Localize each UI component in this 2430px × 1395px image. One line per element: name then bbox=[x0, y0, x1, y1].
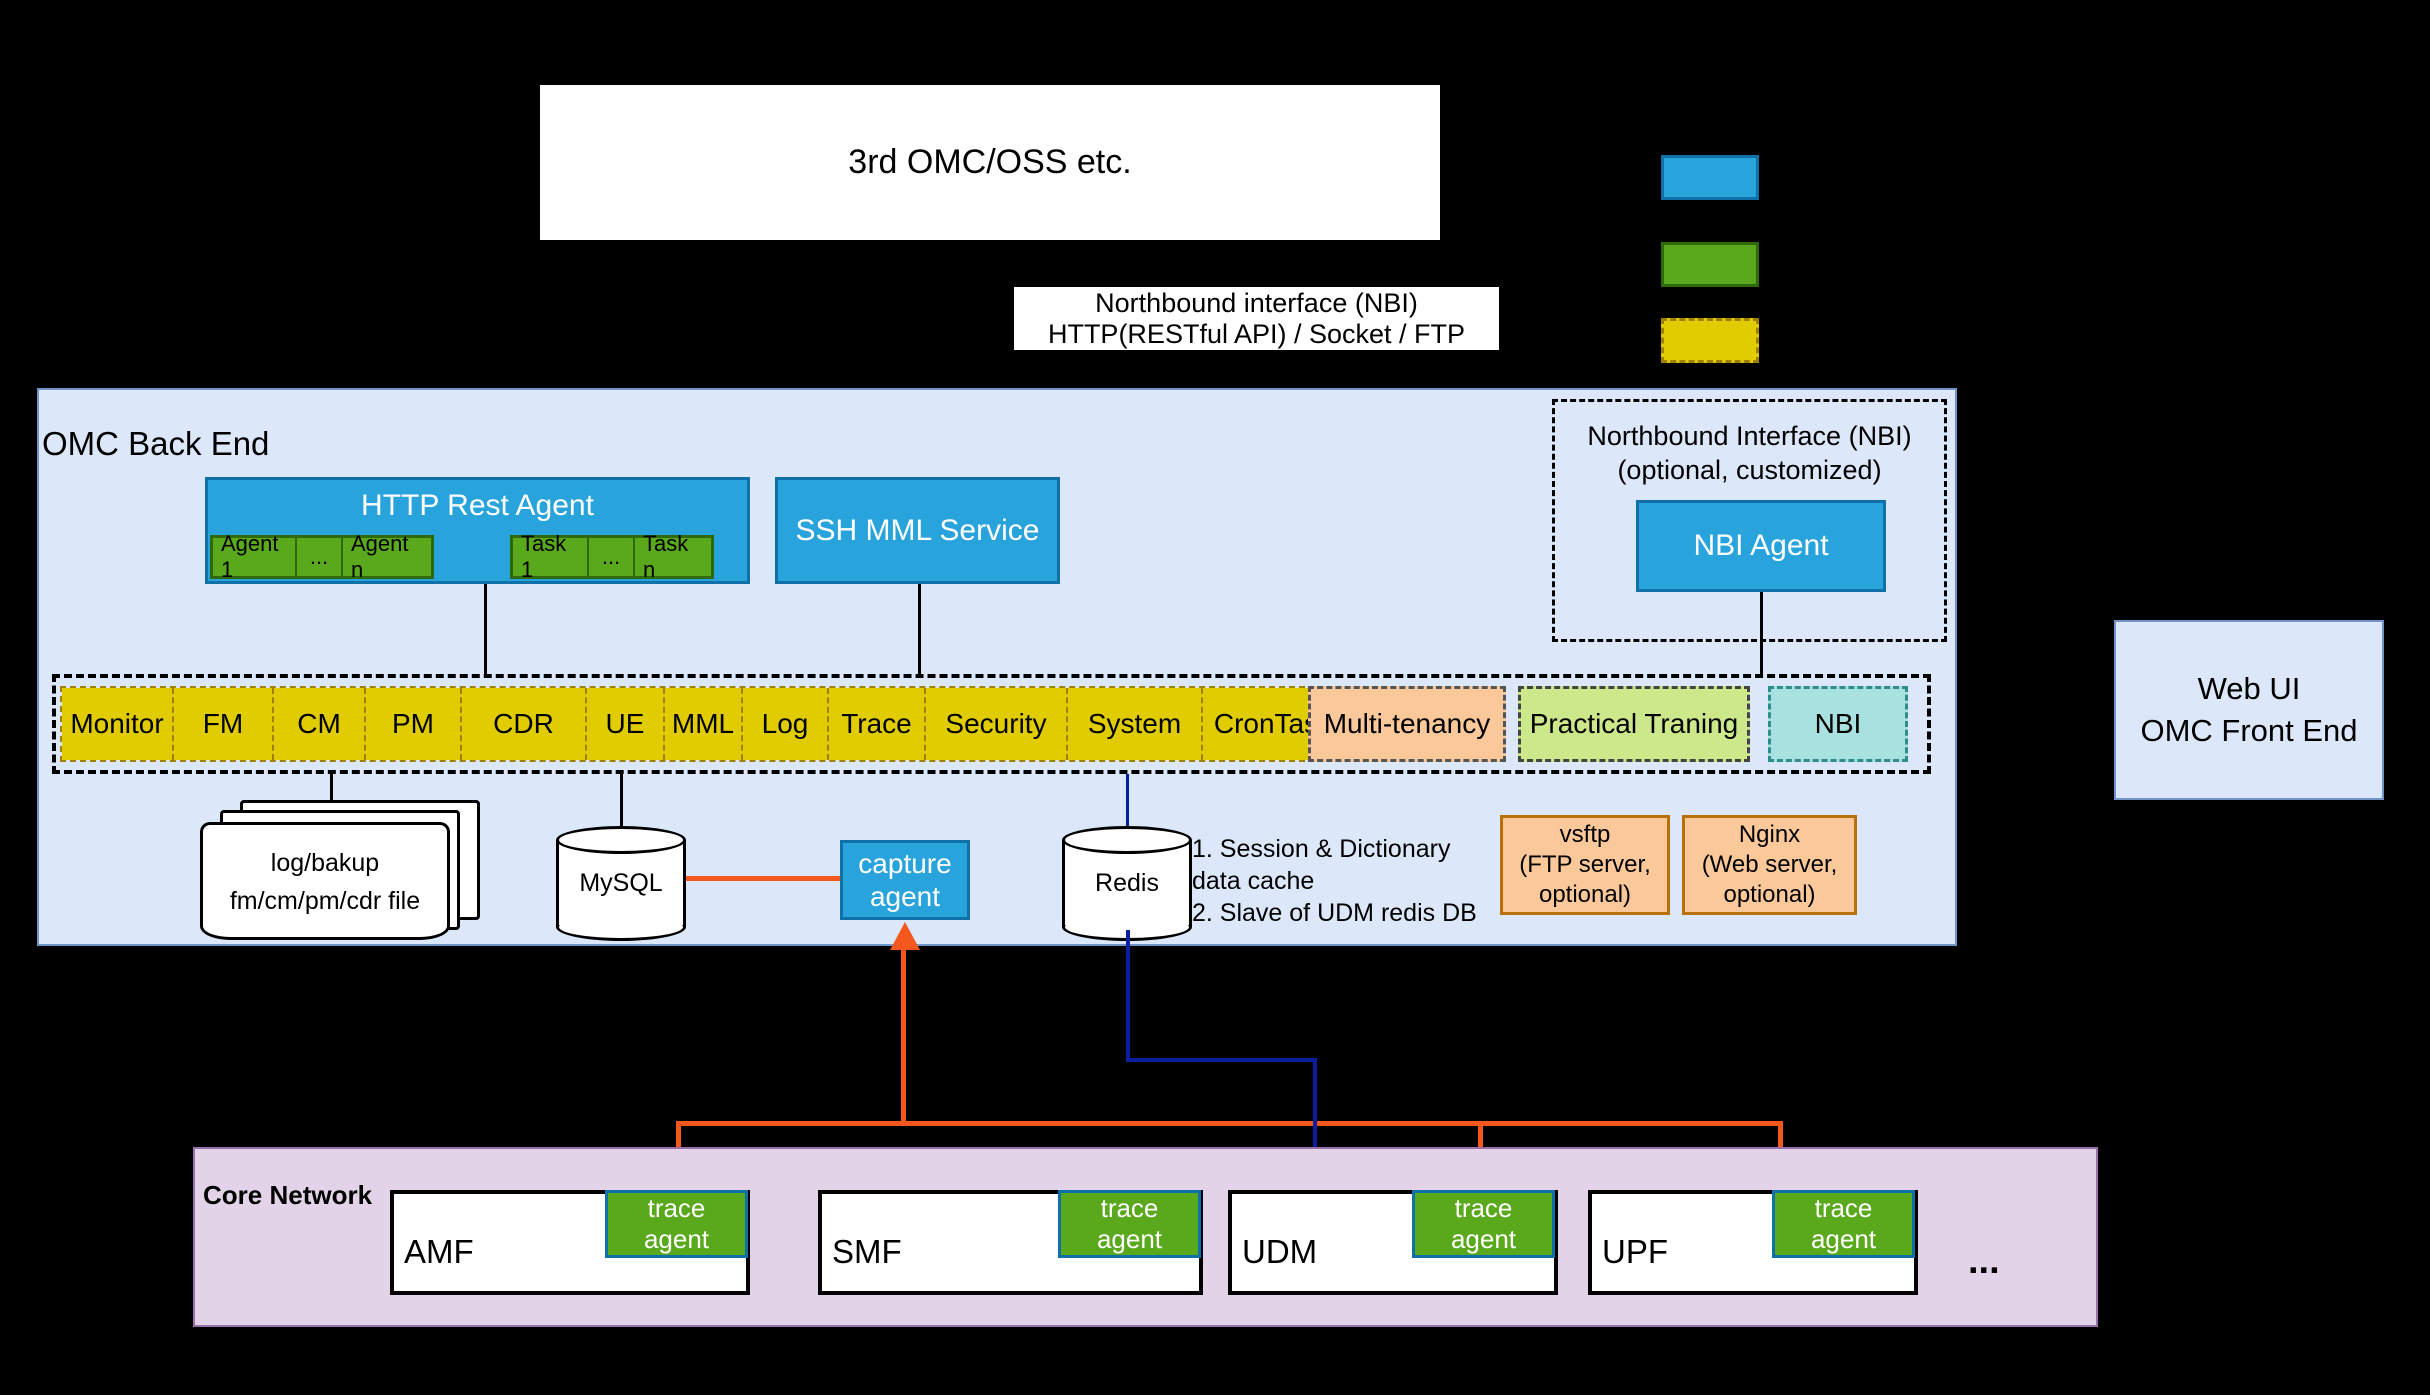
connector-httprest-to-modules bbox=[484, 584, 487, 676]
capture-agent-box[interactable]: capture agent bbox=[840, 840, 970, 920]
vsftp-line2: (FTP server, bbox=[1519, 850, 1651, 880]
omc-back-end-title: OMC Back End bbox=[42, 425, 269, 463]
redis-note-line3: 2. Slave of UDM redis DB bbox=[1192, 897, 1492, 929]
vsftp-line1: vsftp bbox=[1560, 820, 1611, 850]
nbi-agent-box[interactable]: NBI Agent bbox=[1636, 500, 1886, 592]
trace-agent-line2: agent bbox=[644, 1224, 709, 1255]
module-nbi[interactable]: NBI bbox=[1768, 686, 1908, 762]
mysql-label: MySQL bbox=[556, 826, 686, 941]
udm-label: UDM bbox=[1242, 1233, 1317, 1271]
agent-chip[interactable]: Agent n bbox=[343, 538, 431, 576]
capture-agent-line1: capture bbox=[858, 847, 951, 880]
module-fm[interactable]: FM bbox=[174, 688, 274, 760]
module-log[interactable]: Log bbox=[743, 688, 829, 760]
module-mml[interactable]: MML bbox=[665, 688, 743, 760]
nginx-line1: Nginx bbox=[1739, 820, 1800, 850]
ssh-mml-service-label: SSH MML Service bbox=[796, 514, 1040, 548]
agent-chip-group: Agent 1 ... Agent n bbox=[210, 535, 434, 579]
task-chip[interactable]: Task 1 bbox=[513, 538, 589, 576]
connector-orange-bus bbox=[676, 1121, 1783, 1126]
module-pm[interactable]: PM bbox=[366, 688, 462, 760]
nginx-box: Nginx (Web server, optional) bbox=[1682, 815, 1857, 915]
connector-modules-to-mysql bbox=[620, 774, 623, 830]
legend-green-swatch bbox=[1661, 242, 1759, 287]
nginx-line2: (Web server, bbox=[1702, 850, 1838, 880]
redis-database-shape: Redis bbox=[1062, 826, 1192, 941]
trace-agent-line1: trace bbox=[1455, 1193, 1513, 1224]
module-multi-tenancy[interactable]: Multi-tenancy bbox=[1308, 686, 1506, 762]
task-chip: ... bbox=[589, 538, 635, 576]
connector-modules-to-redis bbox=[1126, 774, 1129, 830]
module-list: Monitor FM CM PM CDR UE MML Log Trace Se… bbox=[60, 686, 1345, 762]
http-rest-agent-label: HTTP Rest Agent bbox=[205, 487, 750, 525]
trace-agent-line1: trace bbox=[648, 1193, 706, 1224]
nbi-group-title: Northbound Interface (NBI) (optional, cu… bbox=[1552, 418, 1947, 488]
trace-agent-amf[interactable]: trace agent bbox=[605, 1190, 748, 1258]
network-function-ellipsis: ... bbox=[1968, 1240, 2000, 1283]
nginx-line3: optional) bbox=[1723, 880, 1815, 910]
ssh-mml-service-box[interactable]: SSH MML Service bbox=[775, 477, 1060, 584]
legend-yellow-swatch bbox=[1661, 318, 1759, 363]
trace-agent-upf[interactable]: trace agent bbox=[1772, 1190, 1915, 1258]
third-party-label: 3rd OMC/OSS etc. bbox=[848, 143, 1131, 182]
nbi-protocol-line1: Northbound interface (NBI) bbox=[1095, 288, 1418, 319]
nbi-group-line1: Northbound Interface (NBI) bbox=[1587, 419, 1911, 453]
redis-note-line2: data cache bbox=[1192, 865, 1492, 897]
module-cm[interactable]: CM bbox=[274, 688, 366, 760]
trace-agent-smf[interactable]: trace agent bbox=[1058, 1190, 1201, 1258]
redis-note-line1: 1. Session & Dictionary bbox=[1192, 833, 1492, 865]
trace-agent-line1: trace bbox=[1101, 1193, 1159, 1224]
web-ui-line1: Web UI bbox=[2198, 668, 2301, 710]
file-stack-labels: log/bakup fm/cm/pm/cdr file bbox=[200, 832, 450, 932]
connector-thirdparty-to-nbi bbox=[1000, 240, 1003, 288]
connector-mysql-to-capture-agent bbox=[686, 876, 844, 881]
core-network-title: Core Network bbox=[203, 1180, 372, 1211]
vsftp-box: vsftp (FTP server, optional) bbox=[1500, 815, 1670, 915]
nbi-protocol-line2: HTTP(RESTful API) / Socket / FTP bbox=[1048, 319, 1465, 350]
connector-blue-redis-down bbox=[1126, 930, 1130, 1062]
amf-label: AMF bbox=[404, 1233, 474, 1271]
trace-agent-udm[interactable]: trace agent bbox=[1412, 1190, 1555, 1258]
module-ue[interactable]: UE bbox=[587, 688, 665, 760]
connector-nbiagent-to-modules bbox=[1760, 592, 1763, 676]
nbi-agent-label: NBI Agent bbox=[1693, 529, 1828, 563]
web-ui-line2: OMC Front End bbox=[2140, 710, 2357, 752]
legend-blue-swatch bbox=[1661, 155, 1759, 200]
mysql-database-shape: MySQL bbox=[556, 826, 686, 941]
file-stack-line1: log/bakup bbox=[271, 844, 379, 882]
trace-agent-line2: agent bbox=[1097, 1224, 1162, 1255]
trace-agent-line2: agent bbox=[1451, 1224, 1516, 1255]
module-security[interactable]: Security bbox=[926, 688, 1068, 760]
module-practical-traning[interactable]: Practical Traning bbox=[1518, 686, 1750, 762]
task-chip[interactable]: Task n bbox=[635, 538, 711, 576]
module-cdr[interactable]: CDR bbox=[462, 688, 587, 760]
nbi-protocol-label: Northbound interface (NBI) HTTP(RESTful … bbox=[1014, 287, 1499, 350]
file-stack-shape: log/bakup fm/cm/pm/cdr file bbox=[180, 800, 490, 940]
smf-label: SMF bbox=[832, 1233, 902, 1271]
task-chip-group: Task 1 ... Task n bbox=[510, 535, 714, 579]
web-ui-box[interactable]: Web UI OMC Front End bbox=[2114, 620, 2384, 800]
redis-note: 1. Session & Dictionary data cache 2. Sl… bbox=[1192, 833, 1492, 929]
redis-label: Redis bbox=[1062, 826, 1192, 941]
connector-blue-redis-across bbox=[1126, 1058, 1316, 1062]
module-trace[interactable]: Trace bbox=[829, 688, 926, 760]
upf-label: UPF bbox=[1602, 1233, 1668, 1271]
trace-agent-line1: trace bbox=[1815, 1193, 1873, 1224]
file-stack-line2: fm/cm/pm/cdr file bbox=[230, 882, 420, 920]
capture-agent-line2: agent bbox=[870, 880, 940, 913]
agent-chip[interactable]: Agent 1 bbox=[213, 538, 297, 576]
module-monitor[interactable]: Monitor bbox=[62, 688, 174, 760]
trace-agent-line2: agent bbox=[1811, 1224, 1876, 1255]
vsftp-line3: optional) bbox=[1539, 880, 1631, 910]
module-system[interactable]: System bbox=[1068, 688, 1203, 760]
third-party-omc-oss-box: 3rd OMC/OSS etc. bbox=[540, 85, 1440, 240]
agent-chip: ... bbox=[297, 538, 343, 576]
nbi-group-line2: (optional, customized) bbox=[1617, 453, 1881, 487]
arrow-to-capture-agent bbox=[890, 922, 920, 950]
connector-orange-vertical-main bbox=[901, 948, 906, 1125]
connector-sshmml-to-modules bbox=[918, 584, 921, 676]
